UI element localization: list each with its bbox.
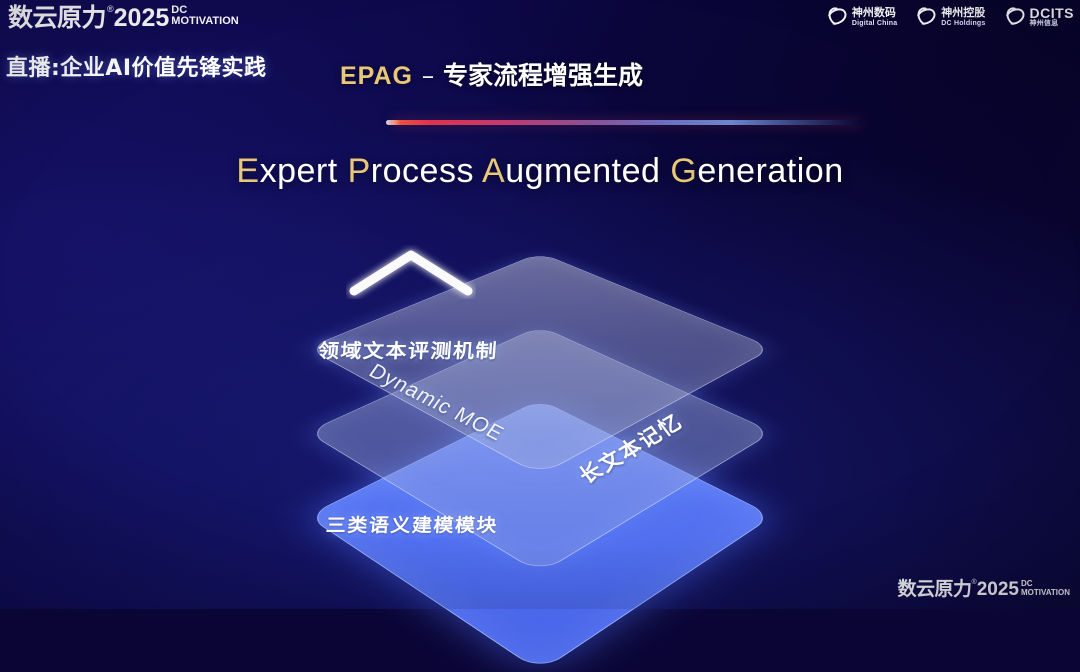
subtitle-cap-g: G [670,152,697,190]
watermark-motivation-label: MOTIVATION [1021,588,1070,597]
title-dash: – [422,61,435,90]
watermark-dc-motivation: DC MOTIVATION [1021,578,1070,597]
diagram-label-text-eval: 领域文本评测机制 [317,336,499,364]
partner-name-cn: 神州控股 [941,7,985,19]
partner-logos: 神州数码 Digital China 神州控股 DC Holdings DC [826,6,1074,28]
registered-mark: ® [107,3,114,16]
partner-name-cn: 神州信息 [1030,19,1075,28]
live-stream-label: 直播:企业AI价值先锋实践 [6,50,267,82]
chevron-up-icon [346,245,476,299]
subtitle-cap-e: E [236,152,259,190]
title-acronym: EPAG [340,62,413,90]
watermark-dc-label: DC [1021,580,1070,588]
brand-motivation-label: MOTIVATION [171,15,238,27]
partner-name-en: DCITS [1030,7,1075,19]
subtitle-rest-generation: eneration [697,152,843,190]
swoosh-logo-icon [1004,6,1026,28]
partner-logo-item: DCITS 神州信息 [1004,6,1075,28]
watermark-name-cn: 数云原力 [898,578,972,601]
subtitle-rest-augmented: ugmented [505,152,660,190]
footer-watermark-logo: 数云原力 ® 2025 DC MOTIVATION [898,578,1071,601]
accent-divider [392,120,862,125]
slide-title: EPAG – 专家流程增强生成 [340,56,643,92]
brand-name-cn: 数云原力 [8,3,106,33]
slide-header: 数云原力 ® 2025 DC MOTIVATION 直播:企业AI价值先锋实践 … [0,0,1080,104]
partner-logo-item: 神州数码 Digital China [826,6,897,28]
partner-name-cn: 神州数码 [852,7,897,19]
subtitle-cap-a: A [482,152,505,190]
brand-year: 2025 [114,3,170,33]
brand-logo: 数云原力 ® 2025 DC MOTIVATION [8,3,239,33]
watermark-year: 2025 [977,578,1019,601]
subtitle-rest-expert: xpert [260,152,338,190]
slide-background: 数云原力 ® 2025 DC MOTIVATION 直播:企业AI价值先锋实践 … [0,0,1080,609]
partner-logo-item: 神州控股 DC Holdings [915,6,985,28]
swoosh-logo-icon [915,6,937,28]
partner-name-en: Digital China [852,19,897,28]
swoosh-logo-icon [826,6,848,28]
layered-architecture-diagram: Dynamic MOE 长文本记忆 三类语义建模模块 领域文本评测机制 [235,205,845,595]
title-chinese: 专家流程增强生成 [443,61,643,90]
diagram-label-semantic-modules: 三类语义建模模块 [325,510,499,537]
partner-name-en: DC Holdings [941,19,985,28]
brand-dc-label: DC [171,5,238,15]
english-subtitle: Expert Process Augmented Generation [0,152,1080,191]
subtitle-cap-p: P [348,152,371,190]
subtitle-rest-process: rocess [371,152,474,190]
brand-dc-motivation: DC MOTIVATION [171,3,238,27]
